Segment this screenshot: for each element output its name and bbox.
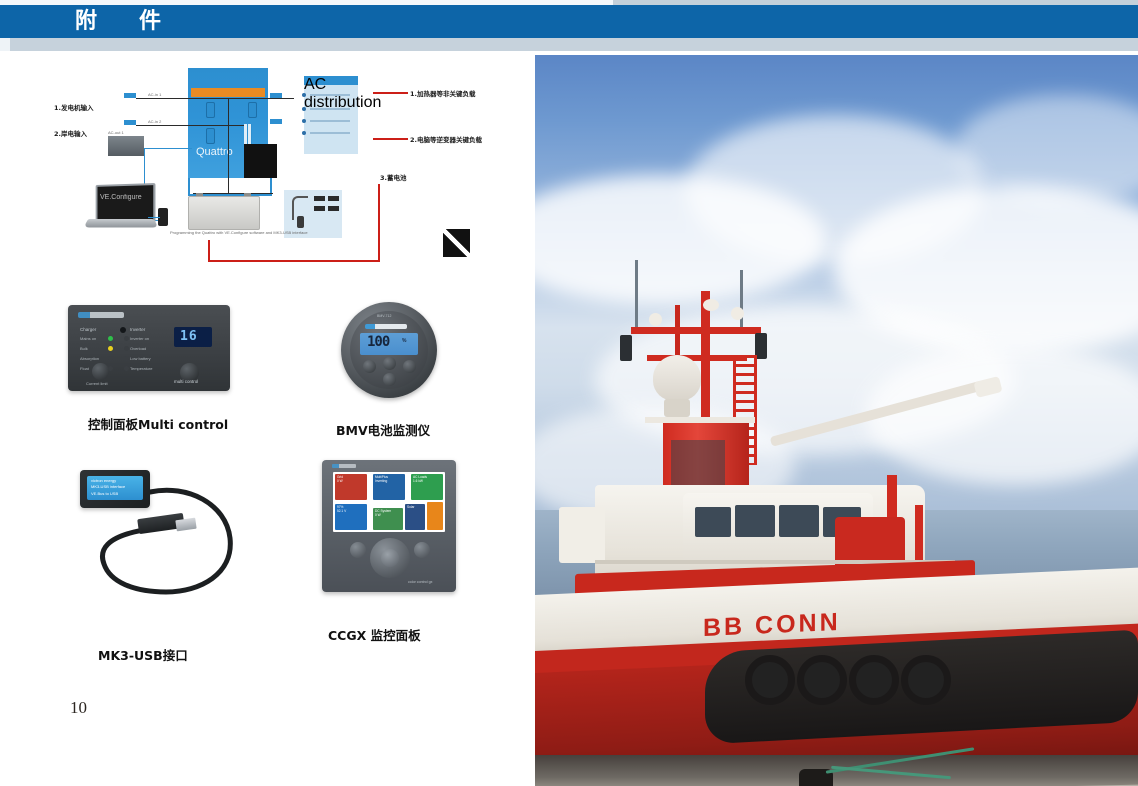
tile-solar: Solar xyxy=(405,504,425,530)
tile-ac-loads-value: 1.6 kW xyxy=(413,479,423,483)
victron-logo-icon xyxy=(332,464,356,468)
inverter-row: Overload xyxy=(130,346,146,351)
ccgx-right-button[interactable] xyxy=(414,542,430,558)
multi-control-brand: multi control xyxy=(174,379,198,384)
dc-cable-pair xyxy=(244,124,252,146)
tile-dc-system: DC System 0 W xyxy=(373,508,403,530)
ccgx-screen: Grid 0 W MultiPlus Inverting AC Loads 1.… xyxy=(333,472,445,532)
caption-ccgx-panel: CCGX 监控面板 xyxy=(328,625,421,644)
product-mk3-usb: victron energy MK3-USB interface VE.Bus … xyxy=(80,470,250,630)
status-led xyxy=(108,336,113,341)
ac-panel-node xyxy=(302,93,306,97)
battery-bank-icon xyxy=(188,196,260,230)
mk3-label-line-2: MK3-USB interface xyxy=(91,484,125,489)
laptop-icon: VE.Configure xyxy=(86,184,154,230)
bmv-monitor-image: BMV-712 100 % xyxy=(341,302,437,398)
ac-out-arrow xyxy=(270,119,282,124)
antenna-whip xyxy=(635,260,638,330)
bmv-button[interactable] xyxy=(383,373,396,386)
header-left-notch xyxy=(0,38,10,51)
inverter-column-title: Inverter xyxy=(130,327,145,332)
ac-wire xyxy=(136,125,246,126)
inverter-row: Low battery xyxy=(130,356,151,361)
page-number: 10 xyxy=(70,698,87,718)
ccgx-dpad-center[interactable] xyxy=(381,549,399,567)
ac-in-arrow xyxy=(124,120,136,125)
ac-in2-text: AC-in 2 xyxy=(148,119,161,124)
antenna-box xyxy=(620,335,632,361)
multi-control-panel-image: Charger Inverter Mains on Bulk Absorptio… xyxy=(68,305,230,391)
ac-panel-row xyxy=(310,108,350,110)
diagram-label-shore-power-input: 2.岸电输入 xyxy=(54,128,87,138)
shunt-icon xyxy=(297,216,304,228)
product-ccgx-panel: Grid 0 W MultiPlus Inverting AC Loads 1.… xyxy=(322,460,456,592)
status-led xyxy=(124,346,129,351)
tile-dc-system-value: 0 W xyxy=(375,513,381,517)
mk3-usb-label-text: victron energy MK3-USB interface VE.Bus … xyxy=(91,478,125,497)
victron-logo-icon xyxy=(78,312,124,318)
dc-wire xyxy=(228,98,229,194)
panel-bar xyxy=(314,196,325,201)
fuse-icon xyxy=(206,102,215,118)
laptop-keyboard xyxy=(84,219,159,228)
bmv-button[interactable] xyxy=(383,357,396,370)
radar-radome xyxy=(653,355,701,401)
antenna-whip xyxy=(740,270,743,330)
bmv-model-text: BMV-712 xyxy=(377,314,391,318)
laptop-screen xyxy=(96,183,156,223)
system-diagram: 1.发电机输入 2.岸电输入 1.加热器等非关键负载 2.电脑等逆变器关键负载 … xyxy=(48,62,518,267)
tile-grid: Grid 0 W xyxy=(335,474,367,500)
tile-battery: 97% 52.1 V xyxy=(335,504,367,530)
mast-crossbar xyxy=(631,327,761,334)
panel-bar xyxy=(328,196,339,201)
navigation-light xyxy=(731,307,744,320)
charger-column-title: Charger xyxy=(80,327,96,332)
bmv-button[interactable] xyxy=(363,360,376,373)
tugboat-photo: BB CONN xyxy=(535,55,1138,786)
bmv-display-value: 100 xyxy=(367,334,389,350)
inverter-row: Temperature xyxy=(130,366,152,371)
fender-tire xyxy=(745,655,795,705)
fender-tire xyxy=(797,655,847,705)
knob-label: Current limit xyxy=(86,381,108,386)
tile-multiplus-value: Inverting xyxy=(375,479,387,483)
ac-panel-node xyxy=(302,131,306,135)
product-bmv-monitor: BMV-712 100 % xyxy=(341,302,437,398)
ac-panel-row xyxy=(310,132,350,134)
ac-panel-header: AC distribution xyxy=(304,76,358,85)
navigation-light xyxy=(703,299,719,311)
diagram-note: Programming the Quattro with VE.Configur… xyxy=(170,230,290,236)
panel-bar xyxy=(314,206,325,211)
panel-bar xyxy=(328,206,339,211)
mk3-label-line-1: victron energy xyxy=(91,478,116,483)
mk3-label-line-3: VE.Bus to USB xyxy=(91,491,118,496)
header-underbar xyxy=(0,38,1138,51)
tile-grid-value: 0 W xyxy=(337,479,343,483)
leader-line-battery xyxy=(208,260,380,262)
ccgx-panel-image: Grid 0 W MultiPlus Inverting AC Loads 1.… xyxy=(322,460,456,592)
diagram-label-battery-bank: 3.蓄电池 xyxy=(380,172,407,182)
page-title: 附 件 xyxy=(75,8,171,36)
status-led xyxy=(124,336,129,341)
caption-multi-control: 控制面板Multi control xyxy=(88,414,228,433)
tile-ac-loads: AC Loads 1.6 kW xyxy=(411,474,443,500)
sensor-dot xyxy=(120,327,126,333)
inverter-glyph xyxy=(443,229,470,257)
ccgx-left-button[interactable] xyxy=(350,542,366,558)
wheelhouse-window xyxy=(779,505,819,537)
leader-line-battery xyxy=(378,184,380,262)
page-root: 附 件 xyxy=(0,0,1138,786)
status-led xyxy=(124,356,129,361)
digital-multi-control-unit xyxy=(108,136,144,156)
ac-panel-node xyxy=(302,107,306,111)
charger-row: Float xyxy=(80,366,89,371)
status-led xyxy=(124,366,129,371)
ve-bus-cable xyxy=(144,148,192,149)
tile-battery-volts: 52.1 V xyxy=(337,509,346,513)
charger-row: Mains on xyxy=(80,336,96,341)
diagram-label-critical-loads: 2.电脑等逆变器关键负载 xyxy=(410,134,482,144)
ac-panel-row xyxy=(310,120,350,122)
caption-mk3-usb: MK3-USB接口 xyxy=(98,645,188,664)
tile-multiplus: MultiPlus Inverting xyxy=(373,474,405,500)
fender-tire xyxy=(901,655,951,705)
mk3-usb-body: victron energy MK3-USB interface VE.Bus … xyxy=(80,470,150,508)
status-led xyxy=(108,356,113,361)
fuse-icon xyxy=(206,128,215,144)
fender-tire xyxy=(849,655,899,705)
deck-equipment xyxy=(559,507,605,563)
mk3-usb-cable xyxy=(148,217,160,218)
ac-in-arrow xyxy=(124,93,136,98)
product-multi-control: Charger Inverter Mains on Bulk Absorptio… xyxy=(68,305,230,391)
inverter-module xyxy=(244,144,277,178)
status-led xyxy=(108,346,113,351)
bmv-button[interactable] xyxy=(403,360,416,373)
quattro-orange-stripe xyxy=(191,88,265,97)
dc-wire xyxy=(193,193,273,194)
tile-solar-title: Solar xyxy=(407,505,414,509)
wheelhouse-window xyxy=(735,505,775,537)
tile-notifications xyxy=(427,502,443,530)
ccgx-brand: color control gx xyxy=(408,580,432,584)
ac-panel-node xyxy=(302,119,306,123)
genset-text: AC-out 1 xyxy=(108,130,124,135)
bmv-display-unit: % xyxy=(402,338,406,344)
diagram-label-generator-input: 1.发电机输入 xyxy=(54,102,94,112)
diagram-label-noncritical-loads: 1.加热器等非关键负载 xyxy=(410,88,476,98)
multi-control-display-value: 16 xyxy=(180,329,198,344)
navigation-light xyxy=(649,313,662,326)
charger-row: Absorption xyxy=(80,356,99,361)
leader-line-critical xyxy=(373,138,408,140)
wheelhouse-window xyxy=(695,507,731,537)
current-limit-knob[interactable] xyxy=(92,363,109,380)
caption-bmv-monitor: BMV电池监测仪 xyxy=(336,420,430,439)
inverter-row: Inverter on xyxy=(130,336,149,341)
ac-in1-text: AC-in 1 xyxy=(148,92,161,97)
ac-panel-row xyxy=(310,94,350,96)
victron-logo-icon xyxy=(365,324,407,329)
leader-line-battery xyxy=(208,240,210,262)
laptop-screen-text: VE.Configure xyxy=(100,194,142,201)
charger-row: Bulk xyxy=(80,346,88,351)
fuse-icon xyxy=(248,102,257,118)
ac-wire xyxy=(136,98,294,99)
radar-base xyxy=(664,399,690,417)
